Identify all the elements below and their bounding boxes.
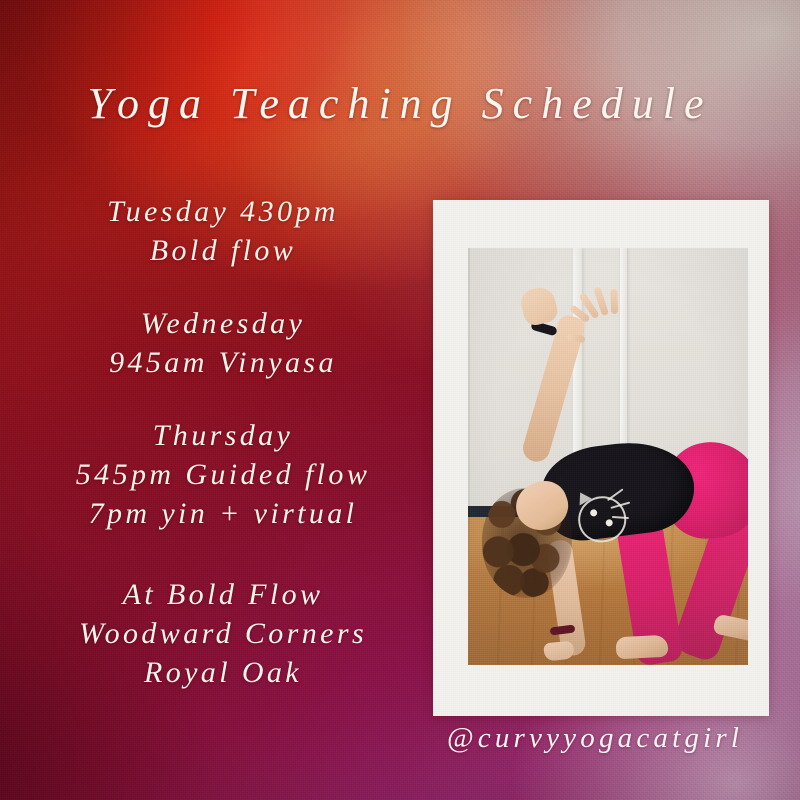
- schedule-entry-thursday: Thursday 545pm Guided flow 7pm yin + vir…: [0, 416, 446, 533]
- location-line: Royal Oak: [0, 653, 446, 692]
- schedule-line: 945am Vinyasa: [0, 343, 446, 382]
- schedule-entry-wednesday: Wednesday 945am Vinyasa: [0, 304, 446, 382]
- schedule-line: Wednesday: [0, 304, 446, 343]
- location-line: Woodward Corners: [0, 614, 446, 653]
- finger: [610, 289, 618, 314]
- schedule-line: Thursday: [0, 416, 446, 455]
- near-foot: [615, 635, 668, 660]
- schedule-entry-tuesday: Tuesday 430pm Bold flow: [0, 192, 446, 270]
- schedule-line: 7pm yin + virtual: [0, 494, 446, 533]
- instagram-handle: @curvyyogacatgirl: [400, 722, 790, 755]
- wall-seam: [468, 248, 470, 548]
- schedule-list: Tuesday 430pm Bold flow Wednesday 945am …: [0, 192, 446, 692]
- cat-graphic-icon: [570, 486, 637, 550]
- schedule-line: 545pm Guided flow: [0, 455, 446, 494]
- page-title: Yoga Teaching Schedule: [0, 78, 800, 129]
- poster-canvas: Yoga Teaching Schedule Tuesday 430pm Bol…: [0, 0, 800, 800]
- studio-location: At Bold Flow Woodward Corners Royal Oak: [0, 575, 446, 692]
- schedule-line: Bold flow: [0, 231, 446, 270]
- schedule-line: Tuesday 430pm: [0, 192, 446, 231]
- photo-frame: [433, 200, 769, 716]
- yoga-pose-photo: [468, 248, 748, 665]
- location-line: At Bold Flow: [0, 575, 446, 614]
